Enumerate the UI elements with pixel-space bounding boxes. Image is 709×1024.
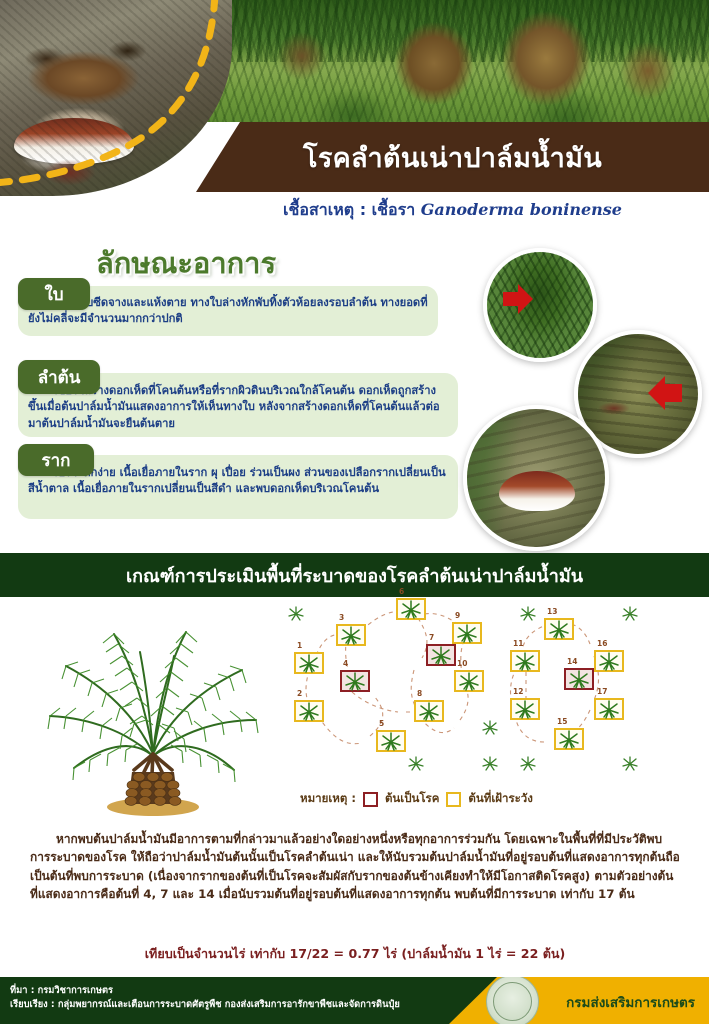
palm-glyph-icon bbox=[544, 618, 574, 640]
palm-glyph-icon bbox=[564, 668, 594, 690]
palm-glyph-icon bbox=[294, 700, 324, 722]
cluster-node-number: 17 bbox=[597, 687, 607, 696]
canopy-foliage bbox=[200, 0, 709, 62]
cluster-node-number: 2 bbox=[297, 689, 302, 698]
conk-shape bbox=[14, 118, 134, 164]
cluster-node-number: 9 bbox=[455, 611, 460, 620]
palm-glyph-icon bbox=[340, 670, 370, 692]
palm-glyph-icon bbox=[454, 670, 484, 692]
palm-glyph-icon bbox=[396, 598, 426, 620]
cluster-node-number: 7 bbox=[429, 633, 434, 642]
doae-emblem-icon bbox=[486, 977, 539, 1024]
footer-source-line1: ที่มา : กรมวิชาการเกษตร bbox=[10, 984, 400, 998]
cluster-node-number: 13 bbox=[547, 607, 557, 616]
diagram-legend: หมายเหตุ : ต้นเป็นโรค ต้นที่เฝ้าระวัง bbox=[300, 788, 700, 810]
ganoderma-conk-on-trunk-photo bbox=[0, 0, 232, 196]
assessment-section-bar: เกณฑ์การประเมินพื้นที่ระบาดของโรคลำต้นเน… bbox=[0, 553, 709, 597]
ganoderma-fruiting-body-photo bbox=[463, 405, 609, 551]
footer-source-line2: เรียบเรียง : กลุ่มพยากรณ์และเตือนการระบา… bbox=[10, 998, 400, 1012]
cluster-node-number: 15 bbox=[557, 717, 567, 726]
causal-agent-line: เชื้อสาเหตุ : เชื้อรา Ganoderma boninens… bbox=[196, 198, 709, 223]
title-bar: โรคลำต้นเน่าปาล์มน้ำมัน bbox=[196, 122, 709, 192]
oil-palm-plantation-photo bbox=[200, 0, 709, 122]
causal-agent-scientific-name: Ganoderma boninense bbox=[421, 200, 622, 219]
symptom-tag-root: ราก bbox=[18, 444, 94, 476]
palm-glyph-icon bbox=[510, 698, 540, 720]
assessment-paragraph: หากพบต้นปาล์มน้ำมันมีอาการตามที่กล่าวมาแ… bbox=[30, 830, 680, 904]
legend-label-diseased: ต้นเป็นโรค bbox=[385, 790, 439, 808]
page-title: โรคลำต้นเน่าปาล์มน้ำมัน bbox=[303, 136, 602, 179]
symptoms-heading: ลักษณะอาการ bbox=[96, 240, 276, 286]
palm-glyph-icon bbox=[376, 730, 406, 752]
palm-glyph-icon bbox=[594, 698, 624, 720]
cluster-node-number: 14 bbox=[567, 657, 577, 666]
cluster-node-number: 1 bbox=[297, 641, 302, 650]
disease-cluster-diagram: 1234567891011121314151617 bbox=[288, 600, 704, 790]
legend-swatch-watch bbox=[446, 792, 461, 807]
oil-palm-tree-illustration bbox=[28, 604, 278, 816]
emblem-inner-ring bbox=[493, 982, 532, 1021]
footer-department-name: กรมส่งเสริมการเกษตร bbox=[566, 991, 695, 1013]
palm-glyph-icon bbox=[452, 622, 482, 644]
assessment-section-title: เกณฑ์การประเมินพื้นที่ระบาดของโรคลำต้นเน… bbox=[126, 561, 583, 590]
causal-agent-label: เชื้อสาเหตุ : เชื้อรา bbox=[283, 200, 415, 219]
cluster-node-number: 5 bbox=[379, 719, 384, 728]
palm-glyph-icon bbox=[414, 700, 444, 722]
symptom-tag-stem: ลำต้น bbox=[18, 360, 100, 394]
palm-glyph-icon bbox=[426, 644, 456, 666]
conk-shape bbox=[499, 471, 575, 511]
cluster-node-number: 6 bbox=[399, 587, 404, 596]
cluster-node-number: 4 bbox=[343, 659, 348, 668]
assessment-summary: เทียบเป็นจำนวนไร่ เท่ากับ 17/22 = 0.77 ไ… bbox=[30, 944, 680, 964]
cluster-node-number: 10 bbox=[457, 659, 467, 668]
infographic-page: โรคลำต้นเน่าปาล์มน้ำมัน เชื้อสาเหตุ : เช… bbox=[0, 0, 709, 1024]
palm-glyph-icon bbox=[554, 728, 584, 750]
palm-glyph-icon bbox=[510, 650, 540, 672]
cluster-node-number: 3 bbox=[339, 613, 344, 622]
assessment-paragraph-text: หากพบต้นปาล์มน้ำมันมีอาการตามที่กล่าวมาแ… bbox=[30, 830, 680, 904]
symptom-tag-leaf: ใบ bbox=[18, 278, 90, 310]
palm-glyph-icon bbox=[294, 652, 324, 674]
legend-title: หมายเหตุ : bbox=[300, 790, 356, 808]
cluster-node-number: 12 bbox=[513, 687, 523, 696]
footer-source: ที่มา : กรมวิชาการเกษตร เรียบเรียง : กลุ… bbox=[10, 984, 400, 1013]
legend-swatch-diseased bbox=[363, 792, 378, 807]
palm-glyph-icon bbox=[594, 650, 624, 672]
legend-label-watch: ต้นที่เฝ้าระวัง bbox=[468, 790, 532, 808]
cluster-node-number: 8 bbox=[417, 689, 422, 698]
palm-glyph-icon bbox=[336, 624, 366, 646]
cluster-node-number: 11 bbox=[513, 639, 523, 648]
cluster-node-number: 16 bbox=[597, 639, 607, 648]
footer-bar: ที่มา : กรมวิชาการเกษตร เรียบเรียง : กลุ… bbox=[0, 977, 709, 1024]
